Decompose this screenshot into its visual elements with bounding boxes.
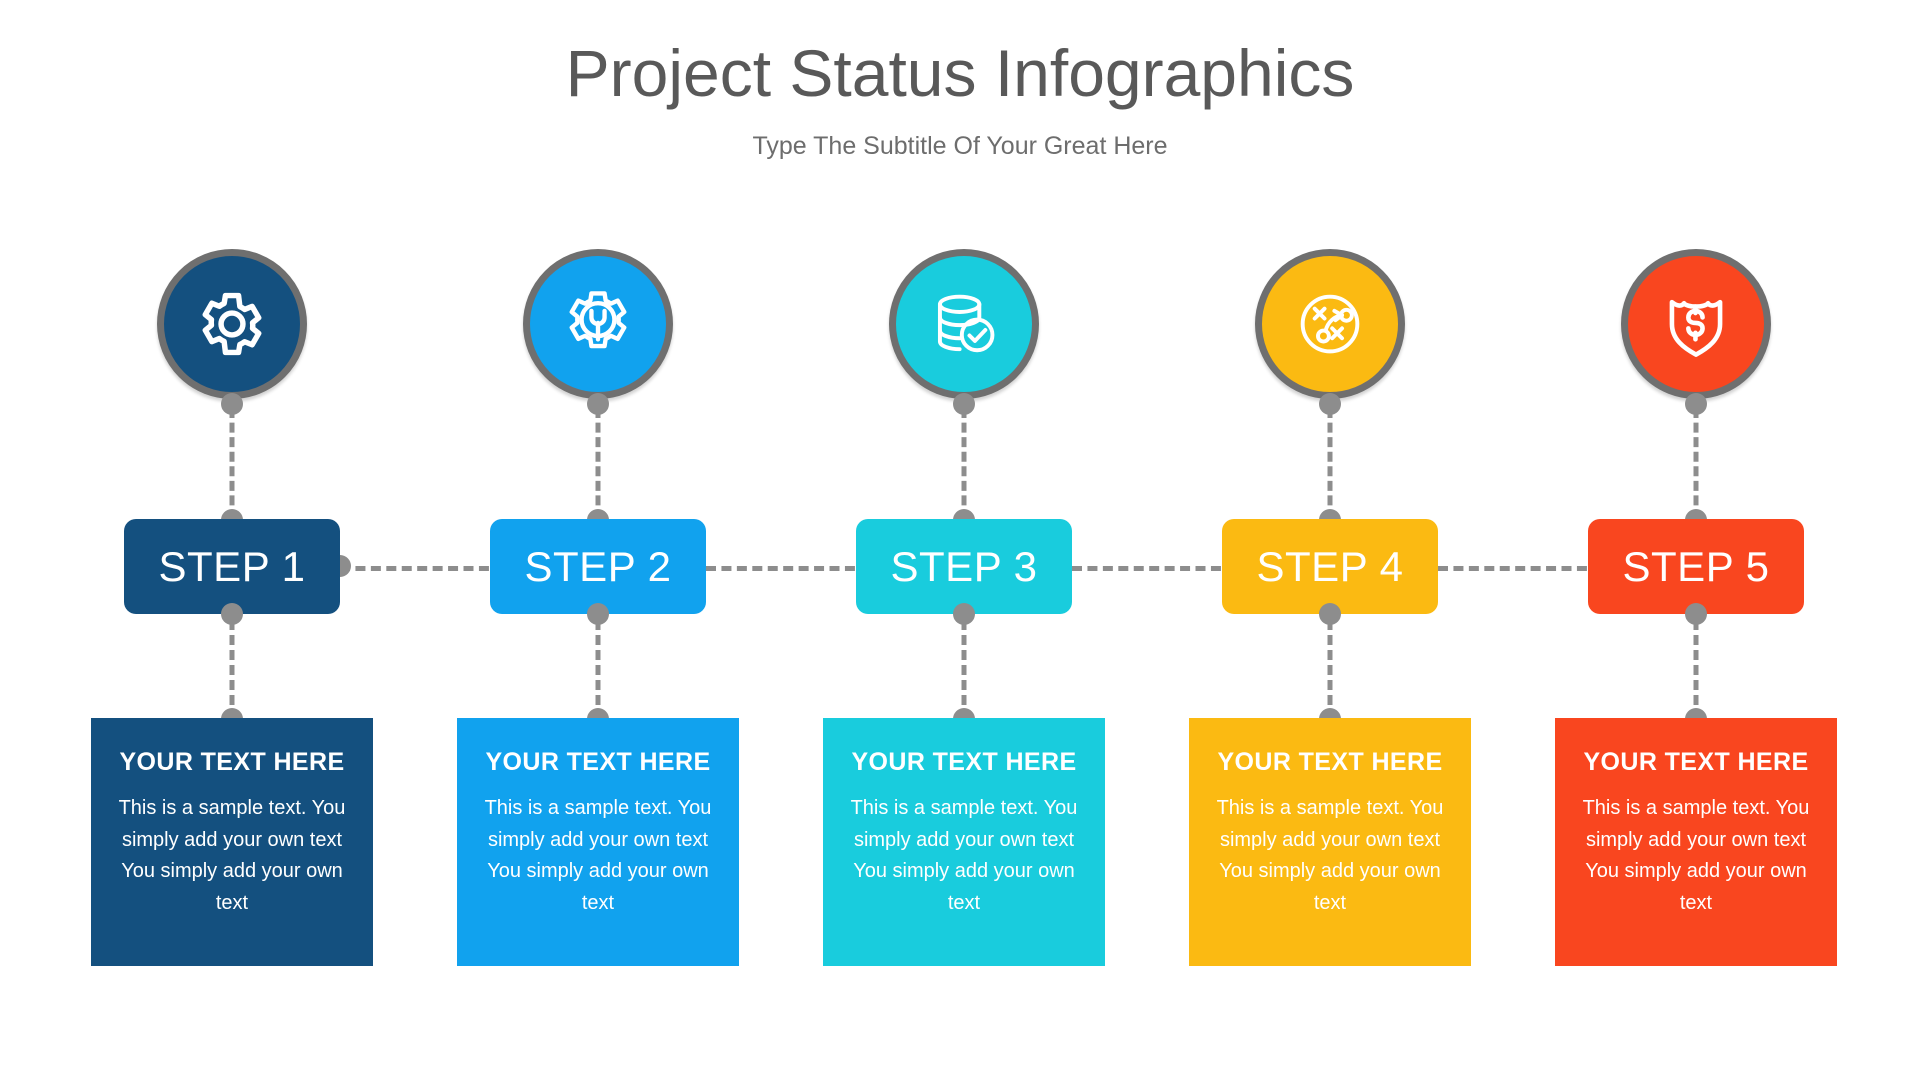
- connector-line-step-card-3: [962, 620, 967, 720]
- card-body: This is a sample text. You simply add yo…: [837, 793, 1091, 919]
- card-heading: YOUR TEXT HERE: [105, 748, 359, 777]
- step-column-5: STEP 5YOUR TEXT HEREThis is a sample tex…: [1513, 0, 1879, 1080]
- step-column-2: STEP 2YOUR TEXT HEREThis is a sample tex…: [415, 0, 781, 1080]
- icon-medallion-3[interactable]: [889, 249, 1039, 399]
- card-body: This is a sample text. You simply add yo…: [1569, 793, 1823, 919]
- text-card-5[interactable]: YOUR TEXT HEREThis is a sample text. You…: [1555, 718, 1837, 966]
- connector-line-icon-step-2: [596, 408, 601, 520]
- card-body: This is a sample text. You simply add yo…: [471, 793, 725, 919]
- step-pill-label: STEP 2: [525, 543, 672, 591]
- connector-line-step-card-4: [1328, 620, 1333, 720]
- text-card-2[interactable]: YOUR TEXT HEREThis is a sample text. You…: [457, 718, 739, 966]
- step-pill-label: STEP 5: [1623, 543, 1770, 591]
- connector-line-step-card-2: [596, 620, 601, 720]
- card-body: This is a sample text. You simply add yo…: [1203, 793, 1457, 919]
- text-card-4[interactable]: YOUR TEXT HEREThis is a sample text. You…: [1189, 718, 1471, 966]
- card-heading: YOUR TEXT HERE: [1569, 748, 1823, 777]
- connector-line-icon-step-5: [1694, 408, 1699, 520]
- step-column-4: STEP 4YOUR TEXT HEREThis is a sample tex…: [1147, 0, 1513, 1080]
- card-heading: YOUR TEXT HERE: [1203, 748, 1457, 777]
- step-pill-label: STEP 3: [891, 543, 1038, 591]
- step-column-3: STEP 3YOUR TEXT HEREThis is a sample tex…: [781, 0, 1147, 1080]
- infographic-slide: Project Status Infographics Type The Sub…: [0, 0, 1920, 1080]
- icon-medallion-2[interactable]: [523, 249, 673, 399]
- card-heading: YOUR TEXT HERE: [837, 748, 1091, 777]
- gear-wrench-icon[interactable]: [523, 249, 673, 399]
- text-card-3[interactable]: YOUR TEXT HEREThis is a sample text. You…: [823, 718, 1105, 966]
- step-pill-5[interactable]: STEP 5: [1588, 519, 1804, 614]
- text-card-1[interactable]: YOUR TEXT HEREThis is a sample text. You…: [91, 718, 373, 966]
- step-pill-4[interactable]: STEP 4: [1222, 519, 1438, 614]
- card-heading: YOUR TEXT HERE: [471, 748, 725, 777]
- connector-line-icon-step-3: [962, 408, 967, 520]
- step-pill-2[interactable]: STEP 2: [490, 519, 706, 614]
- icon-medallion-1[interactable]: [157, 249, 307, 399]
- step-pill-label: STEP 1: [159, 543, 306, 591]
- database-check-icon[interactable]: [889, 249, 1039, 399]
- step-column-1: STEP 1YOUR TEXT HEREThis is a sample tex…: [49, 0, 415, 1080]
- card-body: This is a sample text. You simply add yo…: [105, 793, 359, 919]
- connector-line-icon-step-4: [1328, 408, 1333, 520]
- gear-icon[interactable]: [157, 249, 307, 399]
- connector-line-step-card-5: [1694, 620, 1699, 720]
- icon-medallion-5[interactable]: [1621, 249, 1771, 399]
- step-pill-label: STEP 4: [1257, 543, 1404, 591]
- strategy-icon[interactable]: [1255, 249, 1405, 399]
- connector-line-step-card-1: [230, 620, 235, 720]
- icon-medallion-4[interactable]: [1255, 249, 1405, 399]
- shield-dollar-icon[interactable]: [1621, 249, 1771, 399]
- step-pill-3[interactable]: STEP 3: [856, 519, 1072, 614]
- connector-line-icon-step-1: [230, 408, 235, 520]
- step-pill-1[interactable]: STEP 1: [124, 519, 340, 614]
